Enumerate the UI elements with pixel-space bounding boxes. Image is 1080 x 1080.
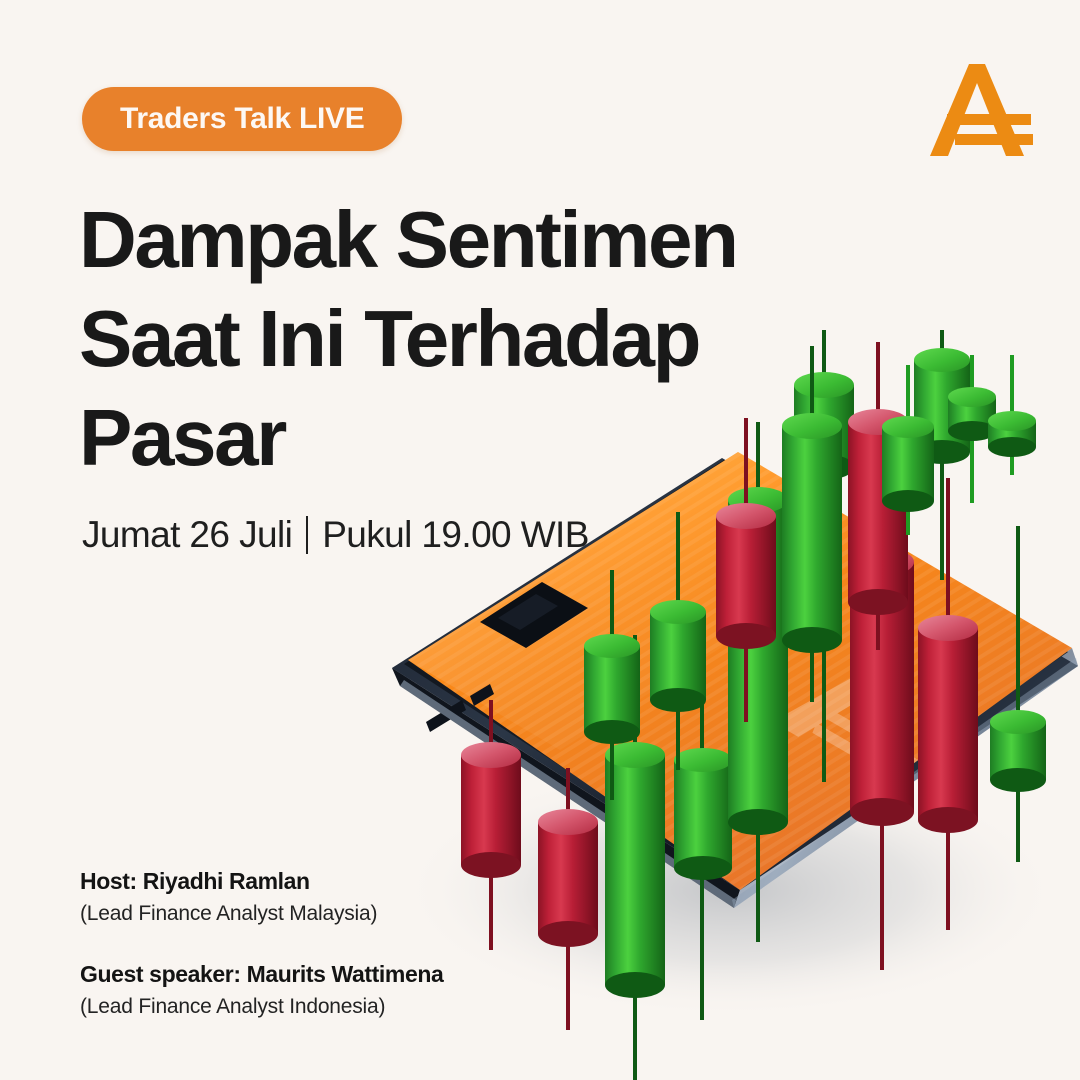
promo-poster: Traders Talk LIVE Dampak Sentimen Saat I…	[0, 0, 1080, 1080]
schedule-separator	[306, 516, 308, 554]
candlestick-series-peak	[860, 355, 1080, 655]
credit-host: Host: Riyadhi Ramlan (Lead Finance Analy…	[80, 866, 550, 929]
candle-13-up	[782, 346, 842, 702]
candle-12-down	[716, 418, 776, 722]
headline-line-1: Dampak Sentimen	[79, 190, 839, 289]
host-role: (Lead Finance Analyst Malaysia)	[80, 899, 550, 929]
candle-18-up	[988, 355, 1036, 475]
event-date: Jumat 26 Juli	[82, 514, 292, 556]
candle-10-up	[584, 570, 640, 800]
a-logo-icon	[925, 58, 1037, 166]
speaker-credits: Host: Riyadhi Ramlan (Lead Finance Analy…	[80, 866, 550, 1022]
live-badge[interactable]: Traders Talk LIVE	[82, 87, 402, 151]
guest-name: Guest speaker: Maurits Wattimena	[80, 959, 550, 989]
live-badge-label: Traders Talk LIVE	[120, 102, 364, 136]
host-name: Host: Riyadhi Ramlan	[80, 866, 550, 896]
candle-11-up	[650, 512, 706, 770]
guest-role: (Lead Finance Analyst Indonesia)	[80, 992, 550, 1022]
brand-logo	[925, 58, 1037, 166]
candle-16-up	[882, 365, 934, 535]
credit-guest: Guest speaker: Maurits Wattimena (Lead F…	[80, 959, 550, 1022]
